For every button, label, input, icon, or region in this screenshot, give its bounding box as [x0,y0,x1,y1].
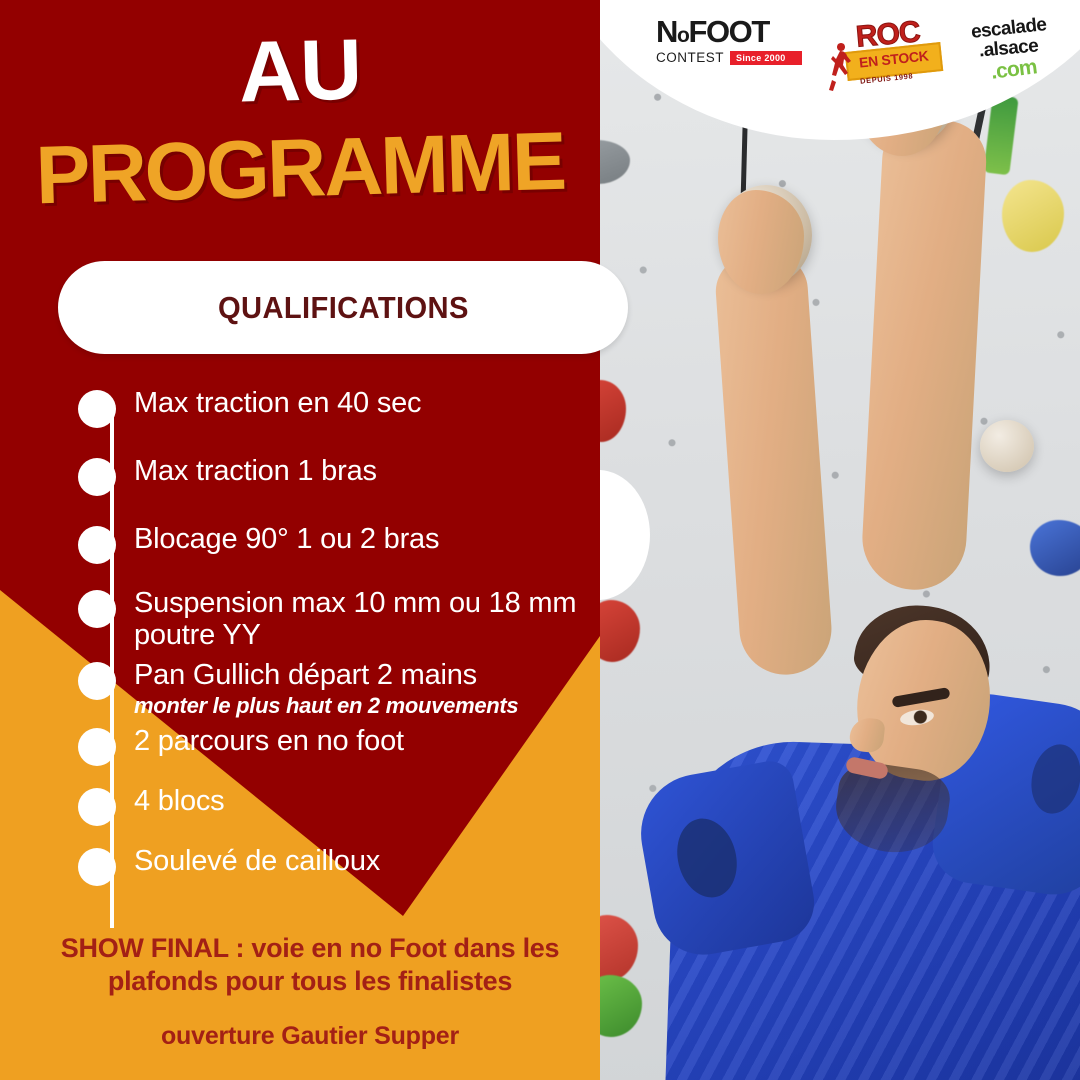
list-item-texts: Max traction 1 bras [134,456,377,488]
list-item-texts: 2 parcours en no foot [134,726,404,758]
list-item-texts: Blocage 90° 1 ou 2 bras [134,524,439,556]
list-item: Pan Gullich départ 2 mains monter le plu… [78,660,598,718]
timeline-dot-icon [78,788,116,826]
poster: NoFOOT CONTEST Since 2000 ROC EN STOCK D… [0,0,1080,1080]
timeline-dot-icon [78,390,116,428]
list-item-label: Pan Gullich départ 2 mains [134,660,518,692]
timeline-dot-icon [78,590,116,628]
section-qualifications-label: QUALIFICATIONS [218,290,469,326]
list-item: Max traction 1 bras [78,456,598,496]
list-item-label: 2 parcours en no foot [134,726,404,758]
list-item-label: Max traction en 40 sec [134,388,421,420]
list-item: 2 parcours en no foot [78,726,598,766]
list-item: 4 blocs [78,786,598,826]
timeline-dot-icon [78,526,116,564]
footer-block: SHOW FINAL : voie en no Foot dans les pl… [40,932,580,1051]
list-item-label: 4 blocs [134,786,225,818]
list-item-texts: 4 blocs [134,786,225,818]
list-item-texts: Suspension max 10 mm ou 18 mm poutre YY [134,588,598,652]
page-title-line1: AU [0,21,601,122]
list-item: Max traction en 40 sec [78,388,598,428]
footer-show-final-text: SHOW FINAL : voie en no Foot dans les pl… [40,932,580,998]
footer-route-setter-text: ouverture Gautier Supper [40,1022,580,1051]
climbing-photo [600,0,1080,1080]
timeline-dot-icon [78,458,116,496]
list-item-texts: Soulevé de cailloux [134,846,380,878]
wooden-ball-grip-spare [980,420,1034,472]
timeline-dot-icon [78,728,116,766]
list-item: Blocage 90° 1 ou 2 bras [78,524,598,564]
timeline-dot-icon [78,662,116,700]
page-title-line2: PROGRAMME [0,120,601,219]
list-item: Suspension max 10 mm ou 18 mm poutre YY [78,588,598,652]
list-item-texts: Pan Gullich départ 2 mains monter le plu… [134,660,518,718]
list-item-label: Blocage 90° 1 ou 2 bras [134,524,439,556]
list-item-label: Max traction 1 bras [134,456,377,488]
list-item-texts: Max traction en 40 sec [134,388,421,420]
list-item-label: Suspension max 10 mm ou 18 mm poutre YY [134,588,598,652]
program-timeline: Max traction en 40 sec Max traction 1 br… [78,388,598,886]
list-item-label: Soulevé de cailloux [134,846,380,878]
timeline-dot-icon [78,848,116,886]
section-qualifications-badge[interactable]: QUALIFICATIONS [58,261,628,354]
list-item: Soulevé de cailloux [78,846,598,886]
list-item-subtitle: monter le plus haut en 2 mouvements [134,693,518,718]
